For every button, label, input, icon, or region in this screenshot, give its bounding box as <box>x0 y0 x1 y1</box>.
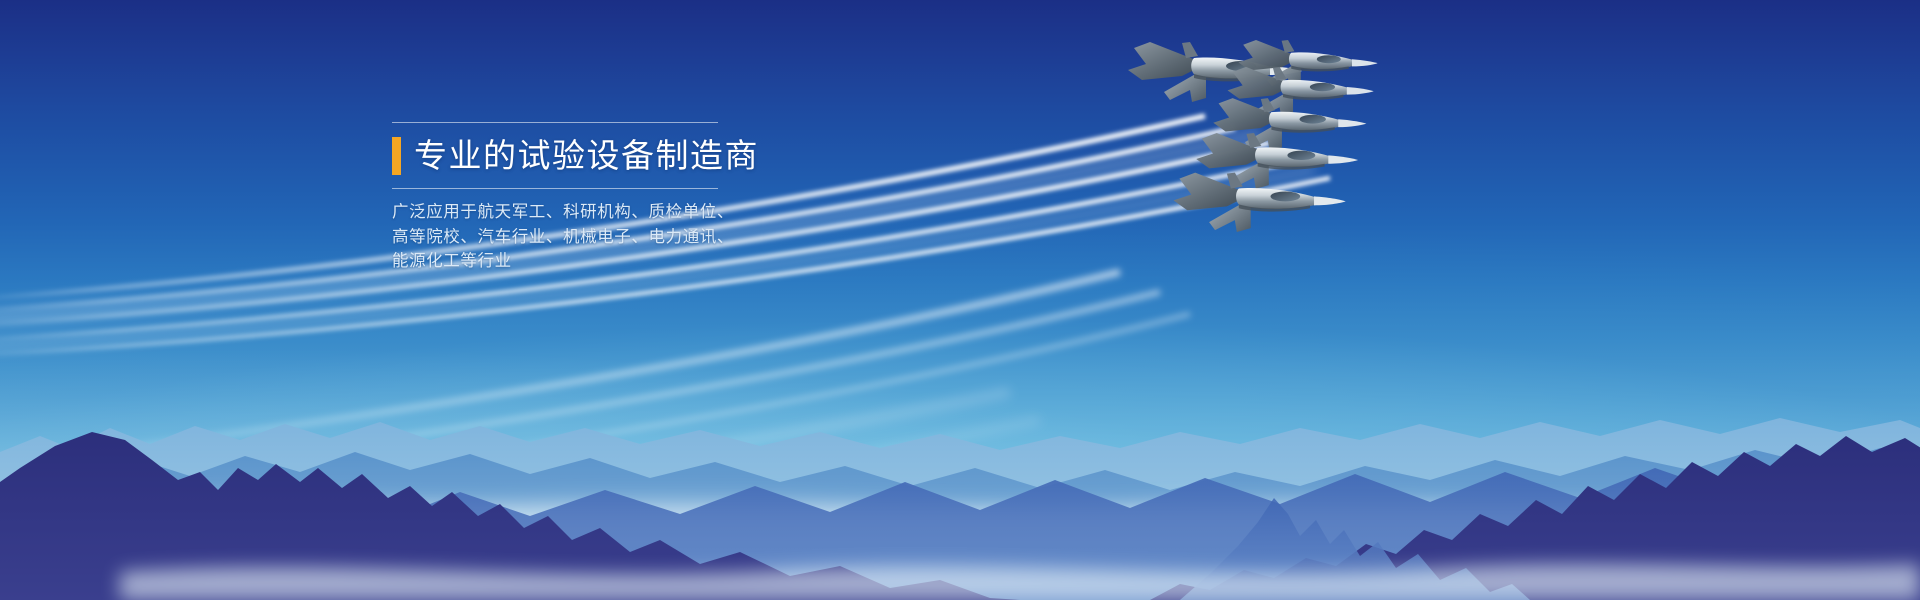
accent-bar-icon <box>392 137 401 175</box>
subtitle-line: 能源化工等行业 <box>392 249 822 274</box>
headline-row: 专业的试验设备制造商 <box>392 132 822 180</box>
page-title: 专业的试验设备制造商 <box>414 137 759 175</box>
headline-rule-bottom <box>392 188 718 189</box>
subtitle-line: 高等院校、汽车行业、机械电子、电力通讯、 <box>392 225 822 250</box>
mountain-range-icon <box>0 340 1920 600</box>
hero-banner: 专业的试验设备制造商 广泛应用于航天军工、科研机构、质检单位、 高等院校、汽车行… <box>0 0 1920 600</box>
subtitle-line: 广泛应用于航天军工、科研机构、质检单位、 <box>392 200 822 225</box>
banner-copy-block: 专业的试验设备制造商 广泛应用于航天军工、科研机构、质检单位、 高等院校、汽车行… <box>392 122 822 274</box>
headline-rule-top <box>392 122 718 123</box>
fighter-jet-formation-icon <box>1120 40 1520 270</box>
subtitle-list: 广泛应用于航天军工、科研机构、质检单位、 高等院校、汽车行业、机械电子、电力通讯… <box>392 200 822 274</box>
